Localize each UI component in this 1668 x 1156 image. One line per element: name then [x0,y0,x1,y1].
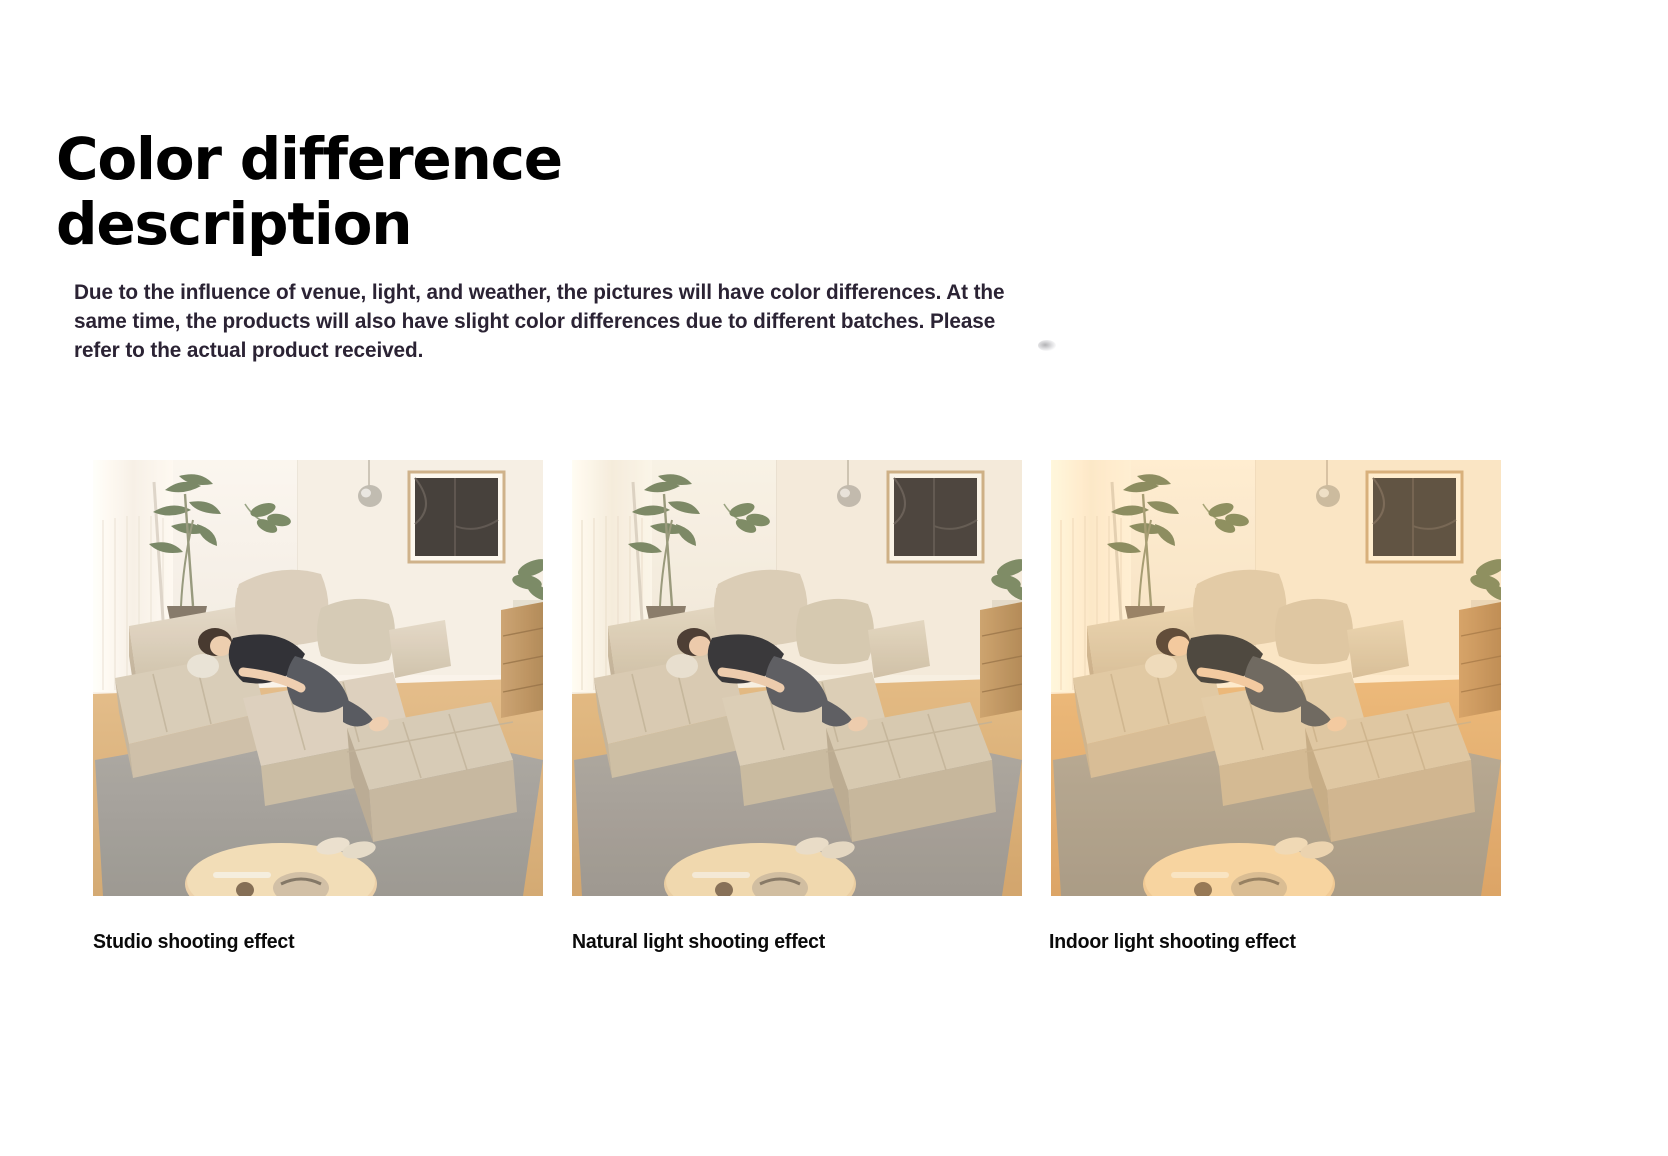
shot-captions: Studio shooting effect Natural light sho… [93,930,1501,984]
shot-natural-light[interactable] [572,460,1022,896]
color-difference-description-text: Due to the influence of venue, light, an… [74,278,1029,365]
caption-indoor-light: Indoor light shooting effect [1049,930,1296,954]
page-root: Color difference description Due to the … [0,0,1668,1156]
shooting-effect-gallery [93,460,1501,896]
page-title: Color difference description [56,127,676,257]
room-scene-studio-image [93,460,543,896]
caption-natural-light: Natural light shooting effect [572,930,825,954]
room-scene-natural-light-image [572,460,1022,896]
shot-indoor-light[interactable] [1051,460,1501,896]
smudge-artifact-icon [1038,340,1056,351]
room-scene-indoor-light-image [1051,460,1501,896]
caption-studio: Studio shooting effect [93,930,294,954]
shot-studio[interactable] [93,460,543,896]
